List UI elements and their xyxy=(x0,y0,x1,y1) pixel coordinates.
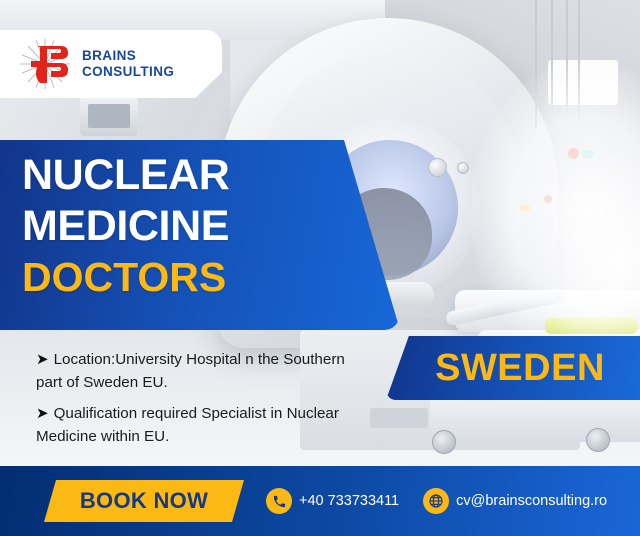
page-title: NUCLEAR MEDICINE DOCTORS xyxy=(22,150,362,303)
brand-name-line2: CONSULTING xyxy=(82,64,174,80)
email-address: cv@brainsconsulting.ro xyxy=(456,493,607,509)
contact-bar: BOOK NOW +40 733733411 cv@brainsconsulti… xyxy=(0,466,640,536)
scanner-base-vent xyxy=(370,408,428,428)
phone-contact[interactable]: +40 733733411 xyxy=(266,488,399,514)
arrow-right-icon: ➤ xyxy=(36,405,54,422)
scanner-knob xyxy=(457,162,469,174)
list-item-text: Location:University Hospital n the South… xyxy=(36,351,345,391)
table-wheel xyxy=(586,428,610,452)
book-now-button[interactable]: BOOK NOW xyxy=(44,480,244,522)
email-contact[interactable]: cv@brainsconsulting.ro xyxy=(423,488,607,514)
table-wheel xyxy=(432,430,456,454)
job-advert-poster: BRAINS CONSULTING NUCLEAR MEDICINE DOCTO… xyxy=(0,0,640,536)
headline-line-1: NUCLEAR xyxy=(22,150,362,201)
scanner-knob xyxy=(428,158,447,177)
list-item: ➤Location:University Hospital n the Sout… xyxy=(36,348,366,394)
phone-number: +40 733733411 xyxy=(299,493,399,509)
brand-name-line1: BRAINS xyxy=(82,48,174,64)
job-details-list: ➤Location:University Hospital n the Sout… xyxy=(36,348,366,456)
brains-consulting-logo-icon xyxy=(18,37,72,91)
headline-line-2: MEDICINE xyxy=(22,201,362,252)
list-item-text: Qualification required Specialist in Nuc… xyxy=(36,405,339,445)
globe-icon xyxy=(423,488,449,514)
brand-name: BRAINS CONSULTING xyxy=(82,48,174,80)
headline-line-3: DOCTORS xyxy=(22,252,362,303)
wall-monitor xyxy=(88,104,130,128)
brand-logo-badge: BRAINS CONSULTING xyxy=(0,30,222,98)
arrow-right-icon: ➤ xyxy=(36,351,54,368)
country-badge-label: SWEDEN xyxy=(421,347,605,390)
phone-icon xyxy=(266,488,292,514)
country-badge: SWEDEN xyxy=(386,336,640,400)
list-item: ➤Qualification required Specialist in Nu… xyxy=(36,402,366,448)
